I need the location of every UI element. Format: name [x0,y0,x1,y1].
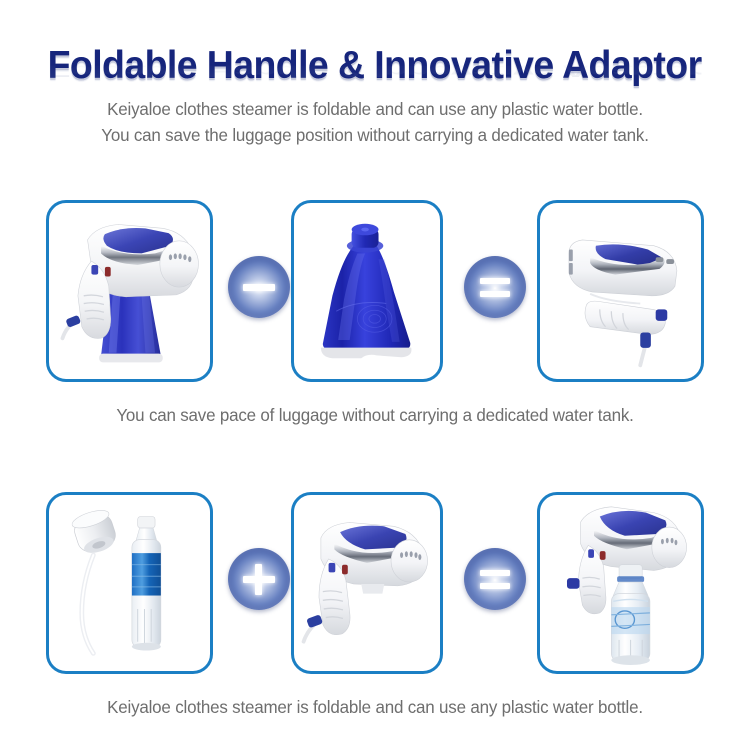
adaptor-and-bottle-image [49,495,210,671]
subtitle-block: Keiyaloe clothes steamer is foldable and… [11,96,739,148]
panel-steamer-body[interactable] [291,492,443,674]
panel-adaptor-and-bottle[interactable] [46,492,213,674]
infographic-page: Foldable Handle & Innovative Adaptor Fol… [0,0,750,750]
subtitle-line-1: Keiyaloe clothes steamer is foldable and… [11,96,739,122]
equals-icon-2 [475,562,515,596]
page-title: Foldable Handle & Innovative Adaptor [48,44,702,88]
steamer-body-image [294,495,440,671]
product-row-2 [0,492,750,674]
operator-equals-badge-row2 [464,548,526,610]
operator-minus-badge [228,256,290,318]
steamer-with-tank-image [49,203,210,379]
panel-steamer-with-bottle[interactable] [537,492,704,674]
panel-detachable-water-tank[interactable] [291,200,443,382]
operator-equals-badge-row1 [464,256,526,318]
product-row-1 [0,200,750,382]
steamer-folded-handle-image [540,203,701,379]
page-title-block: Foldable Handle & Innovative Adaptor Fol… [0,44,750,88]
subtitle-line-2: You can save the luggage position withou… [11,122,739,148]
minus-icon [239,270,279,304]
panel-steamer-folded-handle[interactable] [537,200,704,382]
detachable-water-tank-image [294,203,440,379]
equals-icon [475,270,515,304]
steamer-with-bottle-image [540,495,701,671]
caption-row-2: Keiyaloe clothes steamer is foldable and… [11,697,739,718]
plus-icon [239,562,279,596]
operator-plus-badge [228,548,290,610]
caption-row-1: You can save pace of luggage without car… [11,405,739,426]
panel-steamer-with-tank[interactable] [46,200,213,382]
